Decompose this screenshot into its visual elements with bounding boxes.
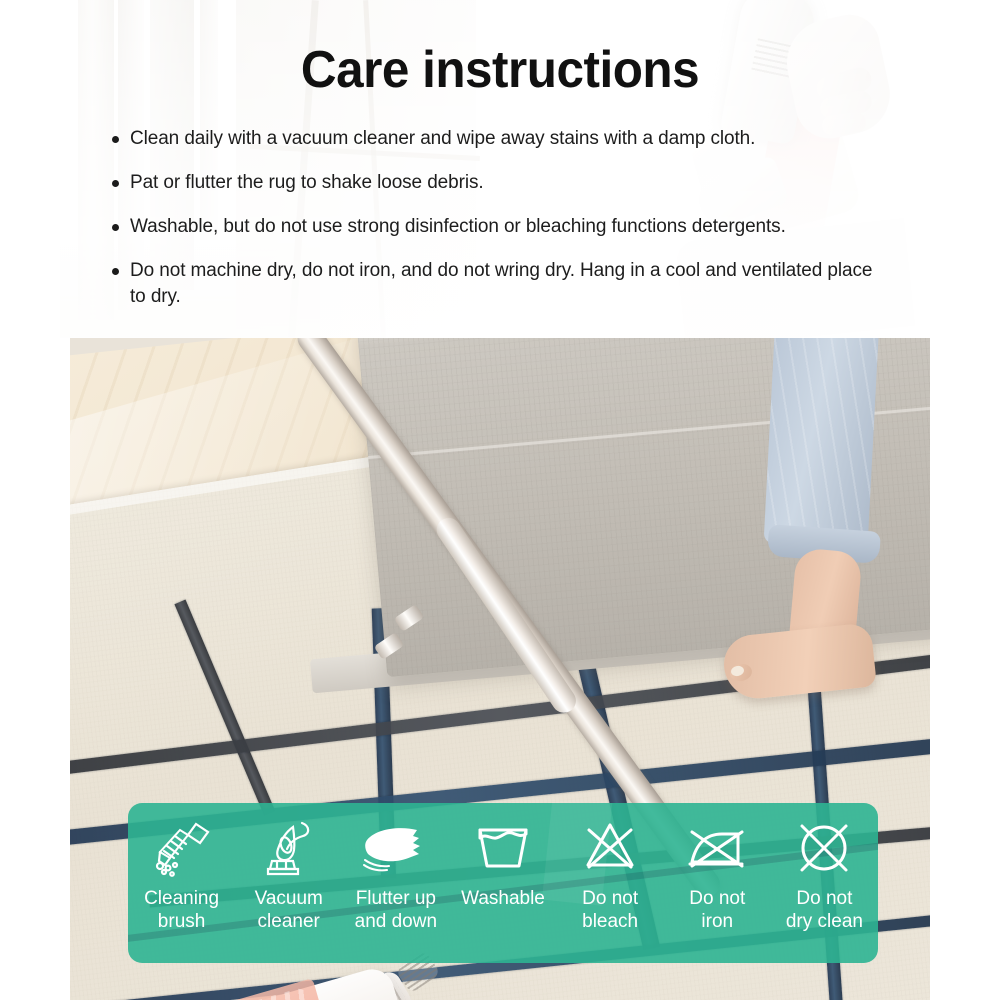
care-item-do-not-dry-clean: Do not dry clean: [771, 803, 878, 963]
care-item-label-line2: cleaner: [255, 910, 323, 933]
care-item-label-line2: bleach: [582, 910, 638, 933]
list-item-text: Pat or flutter the rug to shake loose de…: [130, 170, 484, 196]
bullet-dot-icon: [112, 268, 119, 275]
list-item: Pat or flutter the rug to shake loose de…: [112, 170, 902, 196]
care-item-label-line1: Vacuum: [255, 887, 323, 910]
bullet-dot-icon: [112, 136, 119, 143]
vacuum-cleaner-icon: [260, 817, 318, 879]
list-item-text: Clean daily with a vacuum cleaner and wi…: [130, 126, 755, 152]
care-item-flutter-up-and-down: Flutter up and down: [342, 803, 449, 963]
care-item-label-line1: Cleaning: [144, 887, 219, 910]
care-item-label-line1: Do not: [689, 887, 745, 910]
care-item-label: Cleaning brush: [144, 887, 219, 933]
care-instructions-page: Care instructions Clean daily with a vac…: [0, 0, 1000, 1000]
care-item-label-line2: and down: [355, 910, 437, 933]
care-symbol-list: Cleaning brush: [128, 803, 878, 963]
care-item-label-line1: Flutter up: [355, 887, 437, 910]
fabric-creases: [764, 338, 881, 549]
care-item-label: Vacuum cleaner: [255, 887, 323, 933]
care-item-vacuum-cleaner: Vacuum cleaner: [235, 803, 342, 963]
care-item-label: Do not iron: [689, 887, 745, 933]
flutter-up-and-down-icon: [359, 817, 433, 879]
care-item-label-line1: Washable: [461, 887, 545, 910]
page-title: Care instructions: [25, 40, 975, 100]
care-item-label-line1: Do not: [786, 887, 863, 910]
cleaning-brush-icon: [150, 817, 214, 879]
care-item-label: Washable: [461, 887, 545, 910]
care-item-label: Do not dry clean: [786, 887, 863, 933]
do-not-dry-clean-icon: [795, 817, 853, 879]
care-item-do-not-bleach: Do not bleach: [557, 803, 664, 963]
care-symbols-bar: Cleaning brush: [128, 803, 878, 963]
bullet-dot-icon: [112, 180, 119, 187]
list-item: Clean daily with a vacuum cleaner and wi…: [112, 126, 902, 152]
care-item-label: Flutter up and down: [355, 887, 437, 933]
care-item-cleaning-brush: Cleaning brush: [128, 803, 235, 963]
care-instruction-list: Clean daily with a vacuum cleaner and wi…: [112, 126, 902, 328]
care-item-do-not-iron: Do not iron: [664, 803, 771, 963]
list-item: Washable, but do not use strong disinfec…: [112, 214, 902, 240]
list-item-text: Washable, but do not use strong disinfec…: [130, 214, 786, 240]
do-not-iron-icon: [686, 817, 748, 879]
bullet-dot-icon: [112, 224, 119, 231]
care-item-washable: Washable: [449, 803, 556, 963]
do-not-bleach-icon: [582, 817, 638, 879]
washable-icon: [474, 817, 532, 879]
list-item-text: Do not machine dry, do not iron, and do …: [130, 258, 878, 310]
care-item-label-line2: iron: [689, 910, 745, 933]
care-item-label: Do not bleach: [582, 887, 638, 933]
trouser-leg: [764, 338, 881, 549]
care-item-label-line2: dry clean: [786, 910, 863, 933]
care-item-label-line2: brush: [144, 910, 219, 933]
list-item: Do not machine dry, do not iron, and do …: [112, 258, 902, 310]
care-item-label-line1: Do not: [582, 887, 638, 910]
